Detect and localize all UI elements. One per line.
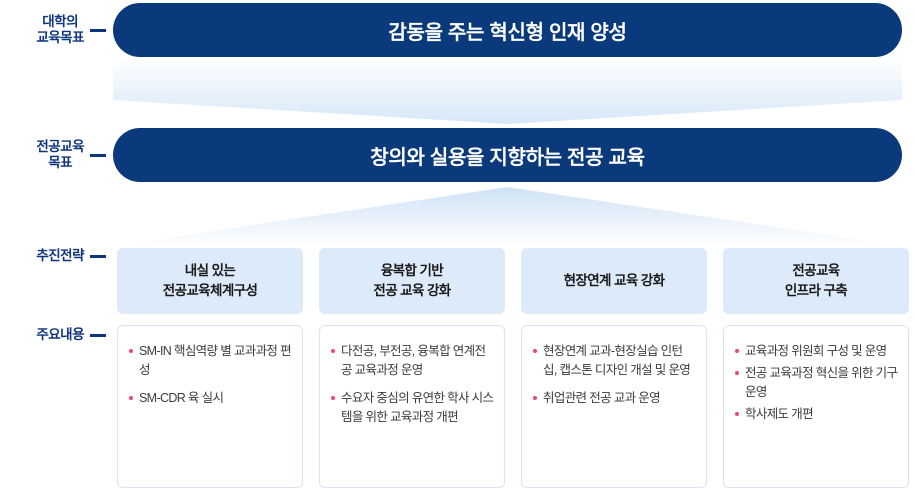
university-goal-banner: 감동을 주는 혁신형 인재 양성	[113, 3, 902, 57]
list-item: 교육과정 위원회 구성 및 운영	[735, 342, 898, 361]
row-label-strategy-text: 추진전략	[36, 248, 84, 264]
list-item: 수요자 중심의 유연한 학사 시스템을 위한 교육과정 개편	[331, 389, 494, 427]
dash-icon	[90, 334, 106, 337]
content-box: 교육과정 위원회 구성 및 운영 전공 교육과정 혁신을 위한 기구 운영 학사…	[723, 325, 909, 488]
content-box: 현장연계 교과-현장실습 인턴십, 캡스톤 디자인 개설 및 운영 취업관련 전…	[521, 325, 707, 488]
row-label-strategy: 추진전략	[0, 243, 113, 269]
row-label-major-goal-text: 전공교육 목표	[36, 139, 84, 170]
list-item: 전공 교육과정 혁신을 위한 기구 운영	[735, 364, 898, 402]
dash-icon	[90, 29, 106, 32]
list-item: 다전공, 부전공, 융복합 연계전공 교육과정 운영	[331, 342, 494, 380]
list-item: 취업관련 전공 교과 운영	[533, 389, 696, 408]
list-item: 현장연계 교과-현장실습 인턴십, 캡스톤 디자인 개설 및 운영	[533, 342, 696, 380]
list-item: 학사제도 개편	[735, 405, 898, 424]
row-label-main-content: 주요내용	[0, 322, 113, 348]
content-box: SM-IN 핵심역량 별 교과과정 편성 SM-CDR 육 실시	[117, 325, 303, 488]
strategy-box[interactable]: 전공교육 인프라 구축	[723, 248, 909, 314]
content-list: 교육과정 위원회 구성 및 운영 전공 교육과정 혁신을 위한 기구 운영 학사…	[735, 342, 898, 424]
list-item: SM-CDR 육 실시	[129, 389, 292, 408]
university-goal-text: 감동을 주는 혁신형 인재 양성	[388, 16, 626, 45]
content-list: 현장연계 교과-현장실습 인턴십, 캡스톤 디자인 개설 및 운영 취업관련 전…	[533, 342, 696, 408]
major-goal-banner: 창의와 실용을 지향하는 전공 교육	[113, 128, 902, 182]
funnel-connector-down	[113, 58, 902, 124]
fan-connector-up	[113, 184, 902, 246]
strategy-column: 현장연계 교육 강화 현장연계 교과-현장실습 인턴십, 캡스톤 디자인 개설 …	[521, 248, 707, 488]
row-label-major-goal: 전공교육 목표	[0, 130, 113, 180]
strategy-box[interactable]: 현장연계 교육 강화	[521, 248, 707, 314]
major-goal-text: 창의와 실용을 지향하는 전공 교육	[370, 141, 644, 170]
strategy-column: 전공교육 인프라 구축 교육과정 위원회 구성 및 운영 전공 교육과정 혁신을…	[723, 248, 909, 488]
education-goals-diagram: 대학의 교육목표 감동을 주는 혁신형 인재 양성 전공교육 목표 창의와 실용…	[0, 0, 915, 500]
content-list: 다전공, 부전공, 융복합 연계전공 교육과정 운영 수요자 중심의 유연한 학…	[331, 342, 494, 427]
dash-icon	[90, 154, 106, 157]
content-list: SM-IN 핵심역량 별 교과과정 편성 SM-CDR 육 실시	[129, 342, 292, 408]
content-box: 다전공, 부전공, 융복합 연계전공 교육과정 운영 수요자 중심의 유연한 학…	[319, 325, 505, 488]
strategy-column: 융복합 기반 전공 교육 강화 다전공, 부전공, 융복합 연계전공 교육과정 …	[319, 248, 505, 488]
row-label-university-goal-text: 대학의 교육목표	[36, 14, 84, 45]
dash-icon	[90, 255, 106, 258]
list-item: SM-IN 핵심역량 별 교과과정 편성	[129, 342, 292, 380]
row-label-main-content-text: 주요내용	[36, 327, 84, 343]
strategy-column: 내실 있는 전공교육체계구성 SM-IN 핵심역량 별 교과과정 편성 SM-C…	[117, 248, 303, 488]
strategy-box[interactable]: 융복합 기반 전공 교육 강화	[319, 248, 505, 314]
strategy-box[interactable]: 내실 있는 전공교육체계구성	[117, 248, 303, 314]
row-label-university-goal: 대학의 교육목표	[0, 5, 113, 55]
